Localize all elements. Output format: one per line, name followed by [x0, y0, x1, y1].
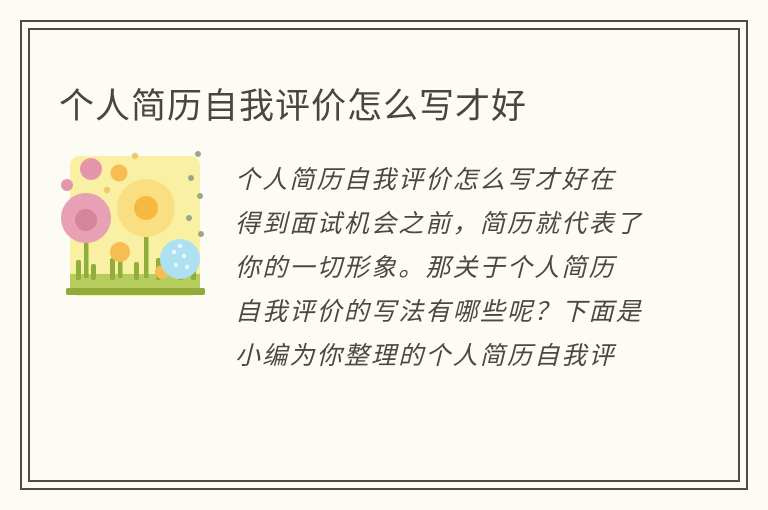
body-line: 得到面试机会之前，简历就代表了 [235, 202, 705, 246]
article-content: 个人简历自我评价怎么写才好 [28, 28, 740, 482]
page-title: 个人简历自我评价怎么写才好 [59, 84, 527, 130]
body-line: 个人简历自我评价怎么写才好在 [235, 158, 705, 202]
body-line: 小编为你整理的个人简历自我评 [235, 334, 705, 378]
article-page: 个人简历自我评价怎么写才好 [0, 0, 768, 510]
body-line: 你的一切形象。那关于个人简历 [235, 246, 705, 290]
flower-field-illustration [58, 146, 213, 301]
illustration-graphic [58, 146, 213, 301]
body-line: 自我评价的写法有哪些呢？下面是 [235, 290, 705, 334]
article-body-text: 个人简历自我评价怎么写才好在 得到面试机会之前，简历就代表了 你的一切形象。那关… [235, 158, 705, 378]
